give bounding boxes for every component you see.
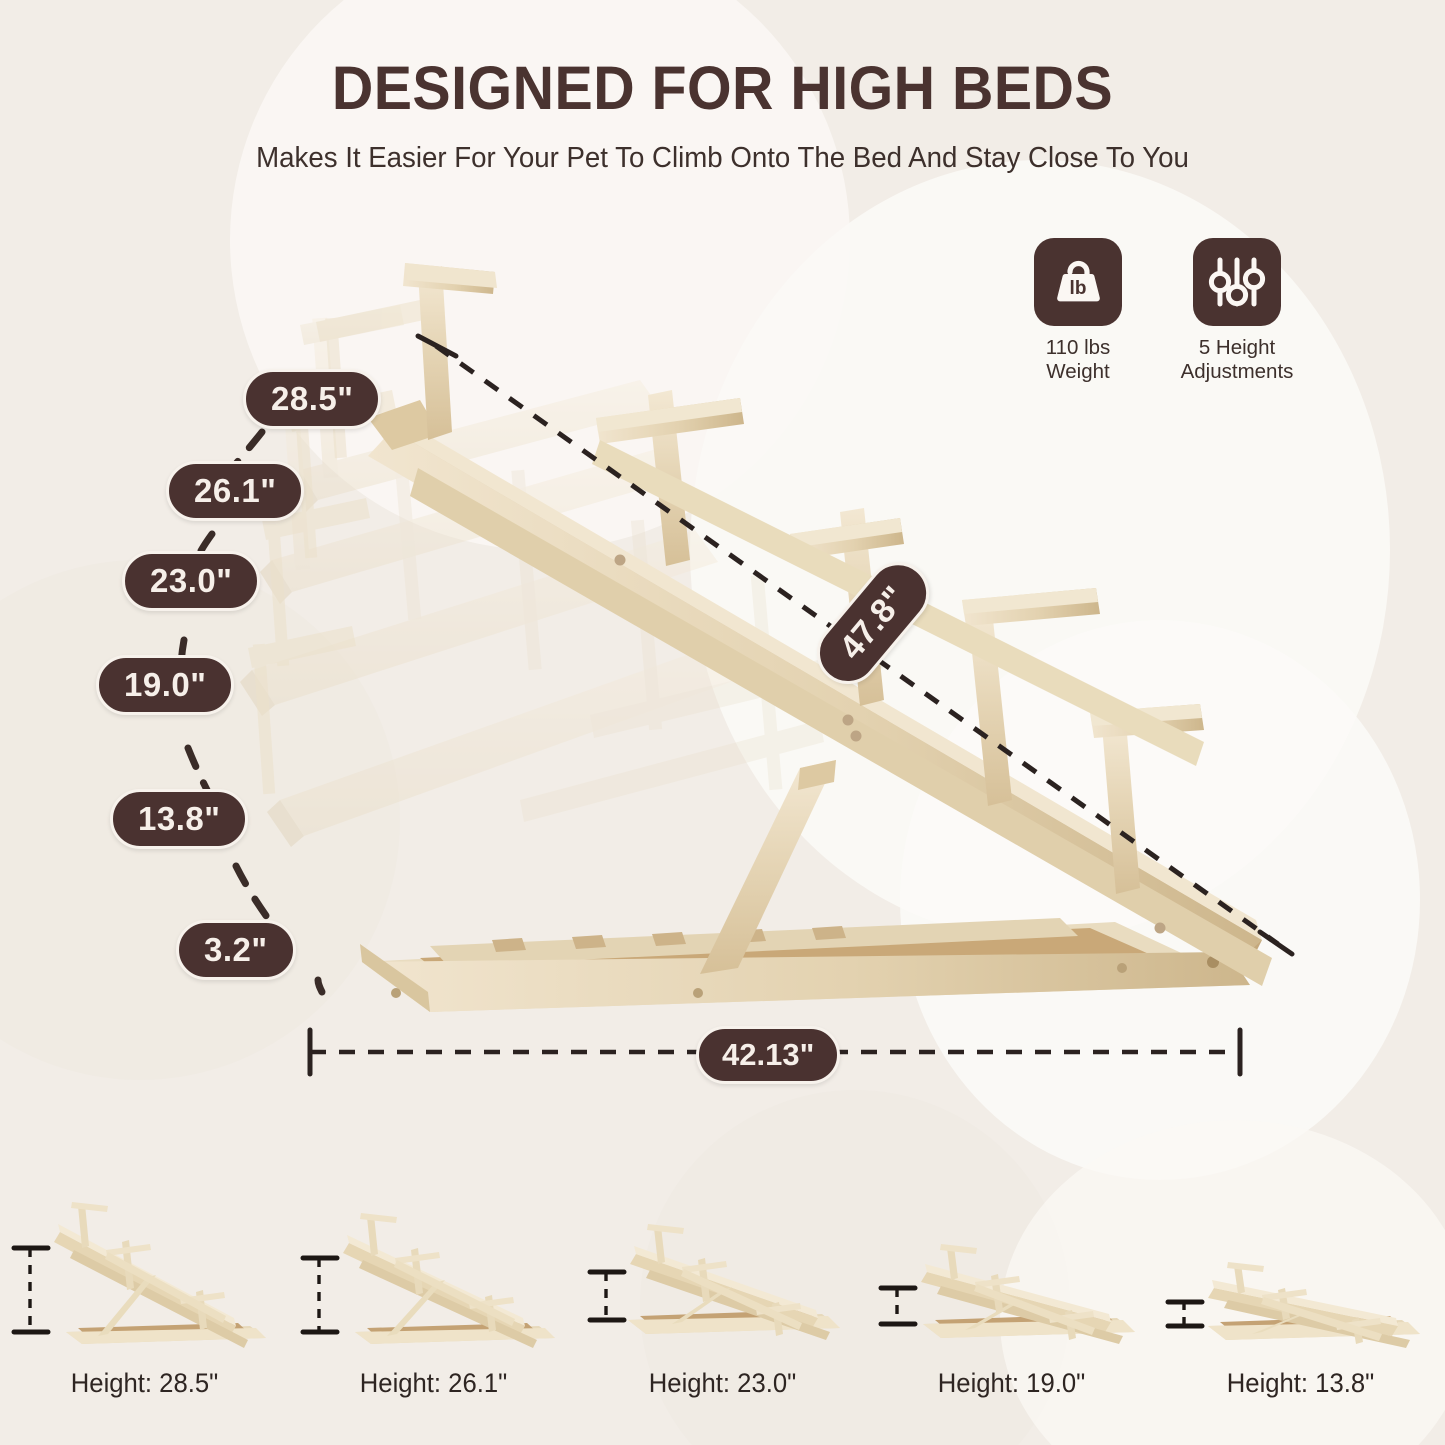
- thumb-height-gauge: [303, 1258, 337, 1332]
- badge-weight: lb 110 lbs Weight: [1024, 238, 1132, 384]
- height-pill-28-5: 28.5": [243, 369, 381, 429]
- width-measure-pill: 42.13": [696, 1026, 840, 1084]
- badge-adjustments-label: 5 Height Adjustments: [1162, 336, 1312, 384]
- badge-weight-line2: Weight: [1046, 360, 1109, 383]
- thumb-height-gauge: [590, 1272, 624, 1320]
- height-pill-3-2: 3.2": [176, 920, 296, 980]
- height-pill-26-1: 26.1": [166, 461, 304, 521]
- thumb-ramp-illustration: [0, 1120, 289, 1355]
- thumb-variant: Height: 13.8": [1156, 1120, 1445, 1445]
- thumb-height-gauge: [14, 1248, 48, 1332]
- height-pill-26-1-label: 26.1": [194, 472, 276, 510]
- height-pill-19-0: 19.0": [96, 655, 234, 715]
- badge-adjustments-line1: 5 Height: [1199, 336, 1275, 359]
- thumb-ramp-illustration: [1156, 1120, 1445, 1355]
- height-pill-13-8: 13.8": [110, 789, 248, 849]
- feature-badges: lb 110 lbs Weight: [1024, 238, 1312, 384]
- thumb-label: Height: 28.5": [7, 1368, 282, 1399]
- page-title: DESIGNED FOR HIGH BEDS: [43, 58, 1401, 119]
- height-variant-row: Height: 28.5": [0, 1120, 1445, 1445]
- svg-text:lb: lb: [1070, 278, 1087, 299]
- thumb-label: Height: 13.8": [1163, 1368, 1438, 1399]
- thumb-ramp-illustration: [289, 1120, 578, 1355]
- header: DESIGNED FOR HIGH BEDS Makes It Easier F…: [0, 0, 1445, 174]
- height-pill-19-0-label: 19.0": [124, 666, 206, 704]
- height-pill-3-2-label: 3.2": [204, 931, 268, 969]
- sliders-icon: [1193, 238, 1281, 326]
- main-ramp: [368, 400, 1272, 986]
- badge-adjustments: 5 Height Adjustments: [1162, 238, 1312, 384]
- thumb-height-gauge: [881, 1288, 915, 1324]
- thumb-height-gauge: [1168, 1302, 1202, 1326]
- weight-bag-icon: lb: [1034, 238, 1122, 326]
- height-pill-28-5-label: 28.5": [271, 380, 353, 418]
- thumb-variant: Height: 28.5": [0, 1120, 289, 1445]
- thumb-variant: Height: 23.0": [578, 1120, 867, 1445]
- badge-weight-label: 110 lbs Weight: [1024, 336, 1132, 384]
- thumb-ramp-illustration: [867, 1120, 1156, 1355]
- thumb-label: Height: 26.1": [296, 1368, 571, 1399]
- thumb-label: Height: 19.0": [874, 1368, 1149, 1399]
- thumb-label: Height: 23.0": [585, 1368, 860, 1399]
- width-measure-label: 42.13": [722, 1037, 814, 1073]
- height-pill-23-0: 23.0": [122, 551, 260, 611]
- thumb-variant: Height: 19.0": [867, 1120, 1156, 1445]
- badge-weight-line1: 110 lbs: [1046, 336, 1111, 359]
- height-pill-13-8-label: 13.8": [138, 800, 220, 838]
- page-subtitle: Makes It Easier For Your Pet To Climb On…: [22, 143, 1424, 174]
- infographic-canvas: DESIGNED FOR HIGH BEDS Makes It Easier F…: [0, 0, 1445, 1445]
- height-pill-23-0-label: 23.0": [150, 562, 232, 600]
- thumb-ramp-illustration: [578, 1120, 867, 1355]
- thumb-variant: Height: 26.1": [289, 1120, 578, 1445]
- badge-adjustments-line2: Adjustments: [1181, 360, 1294, 383]
- base-platform: [360, 918, 1250, 1012]
